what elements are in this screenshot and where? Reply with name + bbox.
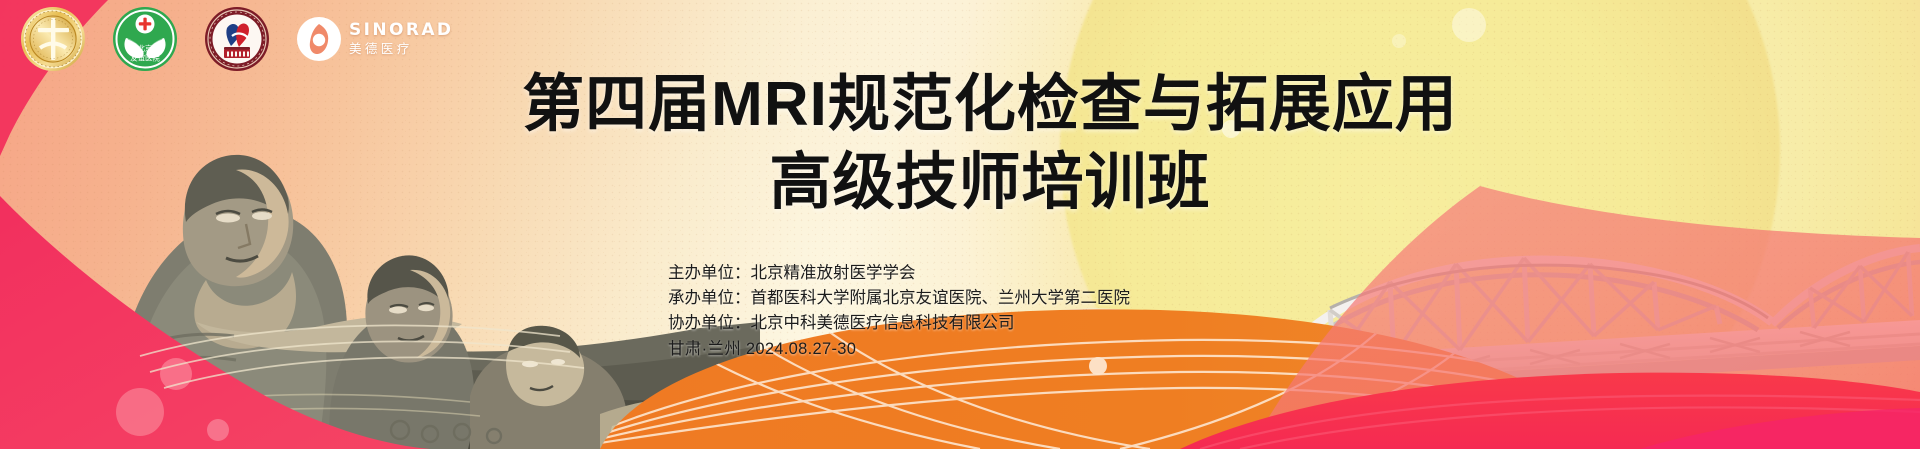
location-and-date: 甘肃·兰州 2024.08.27-30 xyxy=(668,338,1130,361)
co-organizer-organization: 协办单位：北京中科美德医疗信息科技有限公司 xyxy=(668,312,1130,335)
sinorad-en-label: SINORAD xyxy=(349,22,453,39)
dunhuang-buddha-statues-illustration xyxy=(0,96,760,449)
sinorad-logo: SINORAD 美德医疗 xyxy=(296,16,453,62)
sinorad-mark-icon xyxy=(296,16,342,62)
sinorad-cn-label: 美德医疗 xyxy=(349,43,453,56)
friendship-hospital-label-line2: 友谊医院 xyxy=(130,54,160,63)
lanzhou-university-second-hospital-logo xyxy=(204,6,270,72)
host-organization: 主办单位：北京精准放射医学学会 xyxy=(668,262,1130,285)
organizer-organization: 承办单位：首都医科大学附属北京友谊医院、兰州大学第二医院 xyxy=(668,287,1130,310)
friendship-hospital-label-line1: 北京 xyxy=(138,44,153,53)
logo-row: 北京 友谊医院 xyxy=(20,6,453,72)
beijing-friendship-hospital-logo: 北京 友谊医院 xyxy=(112,6,178,72)
organizer-info-block: 主办单位：北京精准放射医学学会 承办单位：首都医科大学附属北京友谊医院、兰州大学… xyxy=(668,262,1130,363)
conference-banner: 北京 友谊医院 xyxy=(0,0,1920,449)
beijing-precision-radiology-society-logo xyxy=(20,6,86,72)
